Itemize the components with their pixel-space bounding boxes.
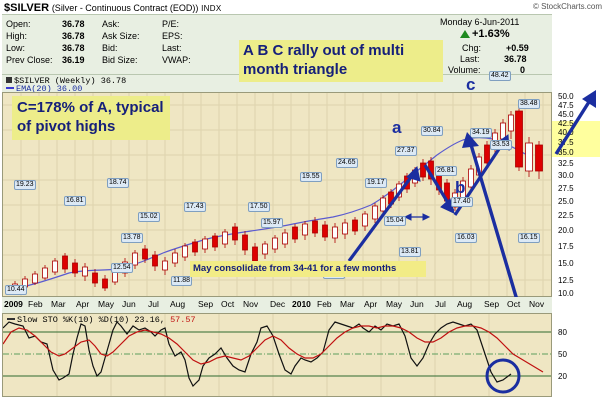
chg-value: +0.59: [506, 43, 529, 53]
y-tick: 27.5: [558, 184, 574, 193]
y-tick: 30.0: [558, 171, 574, 180]
candlestick-icon: [6, 77, 12, 83]
quote-value-high: 36.78: [62, 31, 85, 42]
symbol-header: $SILVER (Silver - Continuous Contract (E…: [4, 2, 221, 14]
indicator-legend: Slow STO %K(10) %D(10) 23.16, 57.57: [7, 315, 196, 325]
price-label: 38.48: [518, 99, 540, 109]
quote-label-open: Open:: [6, 19, 31, 30]
indicator-d-value: 57.57: [170, 315, 196, 325]
x-tick: Apr: [76, 299, 89, 309]
symbol-ticker: $SILVER: [4, 2, 49, 14]
indicator-level: 50: [558, 350, 567, 359]
price-label: 12.54: [111, 263, 133, 273]
x-tick: May: [98, 299, 114, 309]
symbol-description: (Silver - Continuous Contract (EOD)): [52, 3, 199, 13]
price-label: 48.42: [489, 71, 511, 81]
y-tick: 12.5: [558, 276, 574, 285]
x-tick: Oct: [221, 299, 234, 309]
y-tick: 22.5: [558, 211, 574, 220]
price-label: 24.65: [336, 158, 358, 168]
stockcharts-screenshot: $SILVER (Silver - Continuous Contract (E…: [0, 0, 608, 400]
x-tick: Jul: [148, 299, 159, 309]
change-percent: +1.63%: [472, 28, 510, 40]
indicator-k-value: 23.16: [134, 315, 160, 325]
x-tick: Jun: [410, 299, 424, 309]
x-tick: Apr: [364, 299, 377, 309]
last-label: Last:: [460, 54, 480, 64]
stochastic-indicator-panel[interactable]: Slow STO %K(10) %D(10) 23.16, 57.57: [2, 313, 552, 397]
price-label: 15.97: [261, 218, 283, 228]
copyright-notice: © StockCharts.com: [533, 2, 602, 11]
price-label: 26.81: [435, 166, 457, 176]
x-tick: Mar: [340, 299, 355, 309]
line-swatch-icon: [7, 318, 15, 320]
x-tick: Sep: [198, 299, 213, 309]
wave-marker-c: c: [466, 75, 475, 95]
indicator-level: 20: [558, 372, 567, 381]
price-label: 13.81: [399, 247, 421, 257]
quote-label-bid-size: Bid Size:: [102, 55, 138, 66]
x-tick: May: [386, 299, 402, 309]
quote-label-pe: P/E:: [162, 19, 179, 30]
y-tick: 17.5: [558, 242, 574, 251]
quote-label-bid: Bid:: [102, 43, 118, 54]
arrow-up-icon: [460, 30, 470, 38]
y-tick: 10.0: [558, 289, 574, 298]
indicator-name: Slow STO %K(10) %D(10): [17, 315, 129, 325]
wave-marker-a: a: [392, 118, 401, 138]
price-label: 10.44: [5, 285, 27, 295]
chg-label: Chg:: [462, 43, 481, 53]
quote-summary-panel: Monday 6-Jun-2011 +1.63% Chg: +0.59 Last…: [432, 14, 552, 75]
annotation-consolidate: May consolidate from 34-41 for a few mon…: [190, 261, 426, 277]
x-tick: Oct: [507, 299, 520, 309]
quote-label-high: High:: [6, 31, 27, 42]
x-tick: 2009: [4, 299, 23, 309]
x-tick: Nov: [529, 299, 544, 309]
x-tick: 2010: [292, 299, 311, 309]
quote-label-vwap: VWAP:: [162, 55, 191, 66]
quote-label-ask-size: Ask Size:: [102, 31, 140, 42]
quote-label-low: Low:: [6, 43, 25, 54]
stochastic-y-axis: 80 50 20: [552, 313, 606, 397]
y-tick: 20.0: [558, 226, 574, 235]
symbol-exchange: INDX: [201, 4, 221, 13]
annotation-c-ratio: C=178% of A, typical of pivot highs: [12, 96, 170, 140]
quote-label-prev-close: Prev Close:: [6, 55, 53, 66]
stochastic-svg: [3, 314, 551, 396]
indicator-level: 80: [558, 328, 567, 337]
price-label: 11.88: [171, 276, 192, 286]
x-tick: Feb: [317, 299, 332, 309]
quote-value-low: 36.78: [62, 43, 85, 54]
quote-value-prev-close: 36.19: [62, 55, 85, 66]
x-tick: Aug: [457, 299, 472, 309]
y-tick: 25.0: [558, 197, 574, 206]
quote-date: Monday 6-Jun-2011: [440, 17, 519, 27]
annotation-abc-rally: A B C rally out of multi month triangle: [239, 40, 443, 82]
x-tick: Feb: [28, 299, 43, 309]
quote-label-eps: EPS:: [162, 31, 183, 42]
quote-value-open: 36.78: [62, 19, 85, 30]
projection-arrow: [548, 82, 608, 162]
x-tick: Jul: [435, 299, 446, 309]
x-tick: Aug: [170, 299, 185, 309]
x-tick: Sep: [484, 299, 499, 309]
x-tick: Nov: [243, 299, 258, 309]
quote-label-last: Last:: [162, 43, 182, 54]
date-x-axis: 2009 Feb Mar Apr May Jun Jul Aug Sep Oct…: [2, 297, 552, 314]
line-swatch-icon: [6, 87, 14, 89]
price-label: 15.04: [384, 216, 406, 226]
wave-marker-b: b: [455, 178, 465, 198]
x-tick: Jun: [122, 299, 136, 309]
x-tick: Mar: [51, 299, 66, 309]
y-tick: 15.0: [558, 259, 574, 268]
change-percent-row: +1.63%: [460, 28, 510, 40]
price-label: 13.78: [121, 233, 143, 243]
support-projection-arrow: [455, 128, 535, 303]
price-label: 30.84: [421, 126, 443, 136]
last-value: 36.78: [504, 54, 527, 64]
price-label: 27.37: [395, 146, 417, 156]
quote-label-ask: Ask:: [102, 19, 120, 30]
x-tick: Dec: [270, 299, 285, 309]
